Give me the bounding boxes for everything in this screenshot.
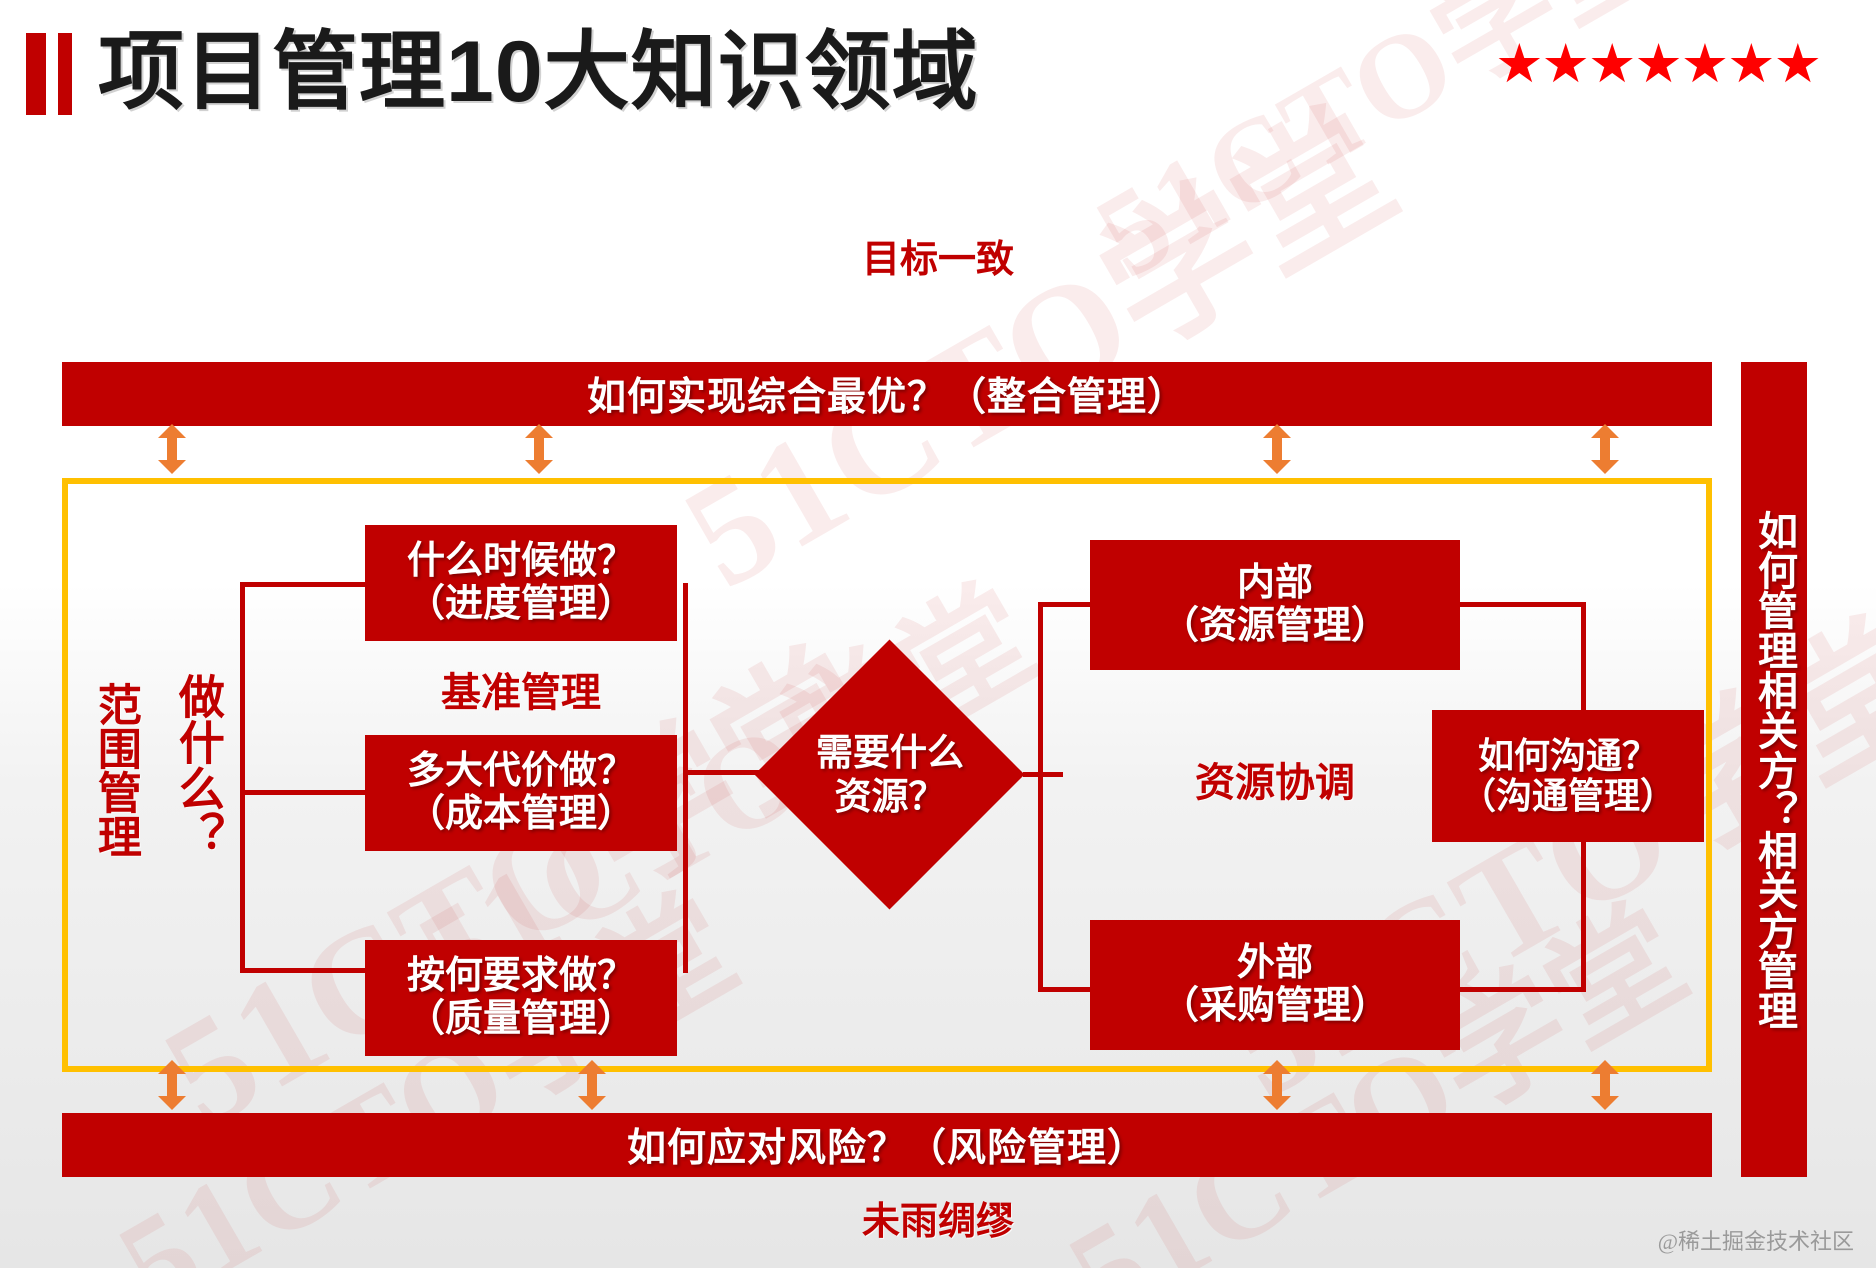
bar-stakeholder-management: 如何管理相关方？相关方管理: [1741, 362, 1807, 1177]
box-internal-line2: （资源管理）: [1161, 605, 1389, 648]
connector-left-group-to-diamond: [683, 770, 761, 775]
connector-internal-to-comm: [1456, 602, 1586, 607]
connector-diamond-to-right: [1023, 772, 1063, 777]
double-arrow-icon: [1588, 424, 1622, 474]
box-resource-management: 内部 （资源管理）: [1090, 540, 1460, 670]
box-external-line2: （采购管理）: [1161, 985, 1389, 1028]
label-what-to-do: 做什么？: [175, 650, 222, 880]
diamond-label: 需要什么 资源？: [755, 640, 1025, 910]
connector-right-to-external: [1038, 987, 1094, 992]
double-arrow-icon: [155, 424, 189, 474]
connector-external-to-comm: [1456, 987, 1586, 992]
double-arrow-icon: [575, 1060, 609, 1110]
double-arrow-icon: [522, 424, 556, 474]
title-marker-bar-right: [58, 33, 72, 115]
connector-left-spine: [240, 582, 245, 972]
box-cost-line1: 多大代价做？: [407, 750, 635, 793]
label-baseline-management: 基准管理: [365, 660, 677, 718]
connector-right-to-internal: [1038, 602, 1094, 607]
label-resource-coordination: 资源协调: [1090, 750, 1460, 808]
title-marker-bar-left: [26, 33, 46, 115]
box-quality-management: 按何要求做？ （质量管理）: [365, 940, 677, 1056]
slide-header: 项目管理10大知识领域 ★★★★★★★: [0, 0, 1876, 150]
box-schedule-line1: 什么时候做？: [407, 540, 635, 583]
connector-left-to-schedule: [240, 582, 368, 587]
label-scope-management: 范围管理: [92, 670, 137, 870]
diamond-line2: 资源？: [835, 775, 946, 819]
page-title: 项目管理10大知识领域: [98, 12, 979, 132]
box-communication-management: 如何沟通？ （沟通管理）: [1432, 710, 1704, 842]
double-arrow-icon: [1260, 1060, 1294, 1110]
star-rating-icon: ★★★★★★★: [1495, 34, 1820, 94]
box-schedule-line2: （进度管理）: [407, 583, 635, 626]
box-comm-line2: （沟通管理）: [1460, 776, 1676, 816]
diamond-line1: 需要什么: [816, 731, 964, 775]
box-external-line1: 外部: [1237, 942, 1313, 985]
slide-canvas: 51CTO学堂 51CTO学堂 51CTO学堂 51CTO学堂 51CTO学堂 …: [0, 0, 1876, 1268]
bar-integration-management: 如何实现综合最优？（整合管理）: [62, 362, 1712, 426]
watermark-credit: @稀土掘金技术社区: [1658, 1224, 1854, 1256]
double-arrow-icon: [1260, 424, 1294, 474]
bar-risk-management: 如何应对风险？（风险管理）: [62, 1113, 1712, 1177]
box-comm-line1: 如何沟通？: [1478, 736, 1658, 776]
box-cost-management: 多大代价做？ （成本管理）: [365, 735, 677, 851]
label-risk-foresight: 未雨绸缪: [0, 1190, 1876, 1245]
double-arrow-icon: [155, 1060, 189, 1110]
double-arrow-icon: [1588, 1060, 1622, 1110]
connector-left-to-quality: [240, 968, 368, 973]
box-schedule-management: 什么时候做？ （进度管理）: [365, 525, 677, 641]
connector-left-to-cost: [240, 790, 368, 795]
box-internal-line1: 内部: [1237, 562, 1313, 605]
box-procurement-management: 外部 （采购管理）: [1090, 920, 1460, 1050]
box-quality-line2: （质量管理）: [407, 998, 635, 1041]
connector-left-group-right-spine: [683, 583, 688, 973]
label-goal-alignment: 目标一致: [0, 228, 1876, 283]
connector-right-spine: [1038, 602, 1043, 992]
box-quality-line1: 按何要求做？: [407, 955, 635, 998]
box-cost-line2: （成本管理）: [407, 793, 635, 836]
diamond-resource-need: 需要什么 资源？: [755, 640, 1025, 910]
